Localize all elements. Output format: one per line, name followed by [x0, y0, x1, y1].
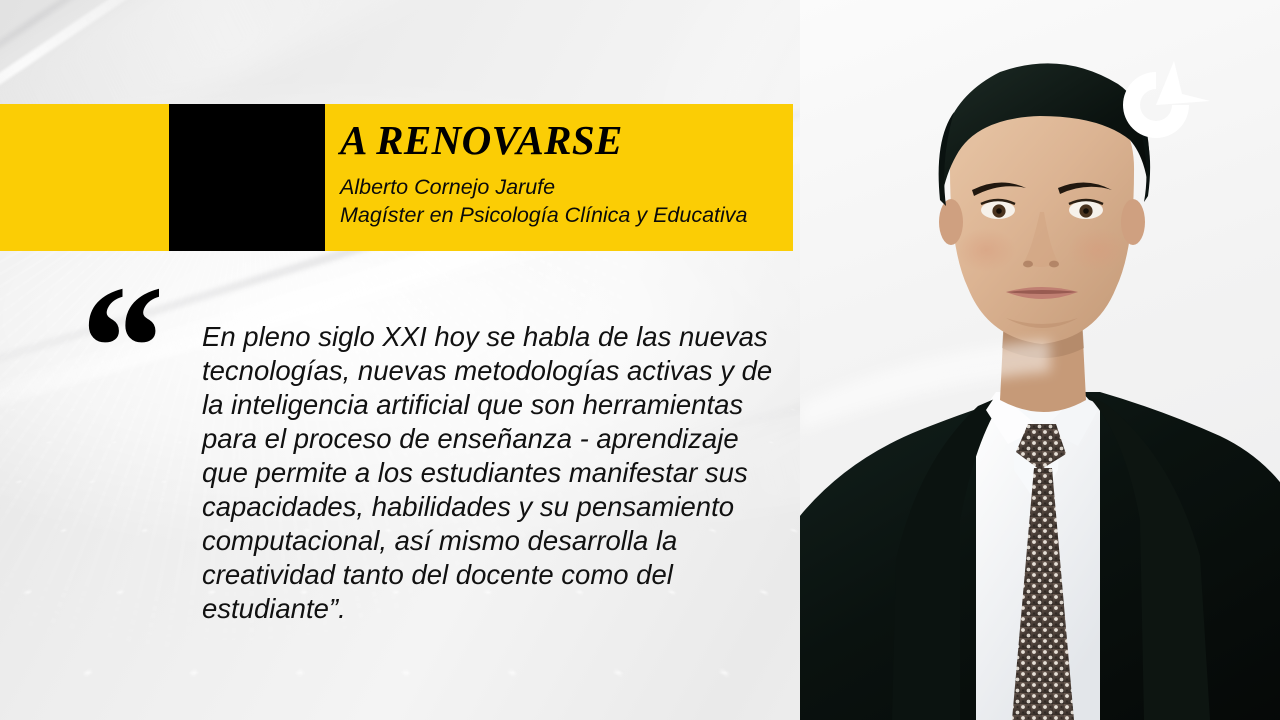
brand-logo[interactable] [1100, 55, 1212, 155]
c-ring-arrow-icon [1100, 55, 1212, 155]
author-name: Alberto Cornejo Jarufe [340, 173, 795, 201]
header-banner: A RENOVARSE Alberto Cornejo Jarufe Magís… [0, 104, 793, 251]
page-title: A RENOVARSE [340, 120, 795, 161]
banner-text-group: A RENOVARSE Alberto Cornejo Jarufe Magís… [340, 104, 795, 251]
banner-black-block [169, 104, 325, 251]
slide-canvas: A RENOVARSE Alberto Cornejo Jarufe Magís… [0, 0, 1280, 720]
quote-text: En pleno siglo XXI hoy se habla de las n… [202, 320, 782, 626]
author-credential: Magíster en Psicología Clínica y Educati… [340, 201, 795, 229]
open-quote-mark: “ [72, 258, 157, 436]
